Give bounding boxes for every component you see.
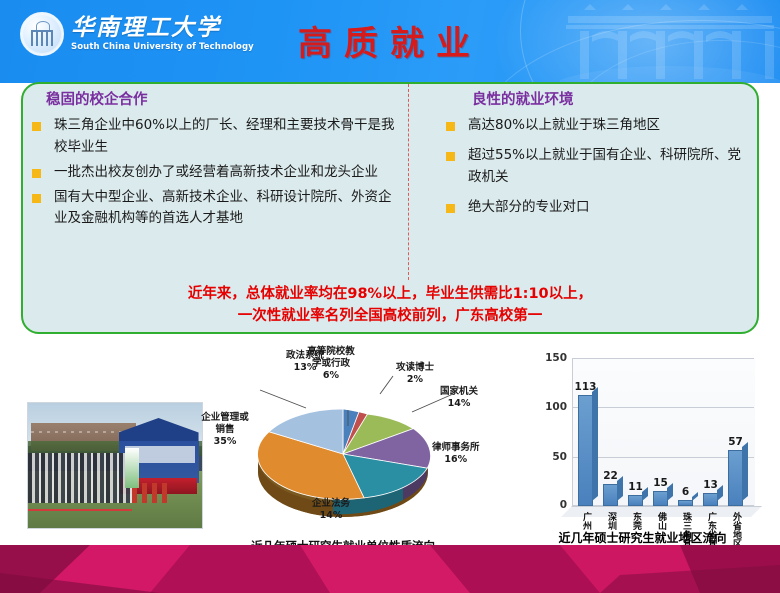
page-title: 高质就业 (0, 16, 780, 65)
right-bullet-list: 高达80%以上就业于珠三角地区 超过55%以上就业于国有企业、科研院所、党政机关… (424, 115, 754, 218)
bar-chart-title: 近几年硕士研究生就业地区流向 (505, 529, 780, 546)
bar-value: 113 (575, 381, 597, 393)
pie-chart: 政法系统13% 高等院校教学或行政6% 攻读博士2% 国家机关14% 律师事务所… (188, 350, 498, 555)
list-item: 绝大部分的专业对口 (424, 197, 754, 219)
column-divider (408, 84, 409, 280)
bar-guangdong-other[interactable]: 13 (703, 493, 718, 506)
list-item: 超过55%以上就业于国有企业、科研院所、党政机关 (424, 145, 754, 189)
highlight-line-1: 近年来，总体就业率均在98%以上，毕业生供需比1:10以上， (21, 283, 759, 305)
left-column: 稳固的校企合作 珠三角企业中60%以上的厂长、经理和主要技术骨干是我校毕业生 一… (28, 88, 400, 233)
bar-side (592, 387, 598, 501)
left-column-heading: 稳固的校企合作 (28, 88, 400, 109)
right-column-heading: 良性的就业环境 (424, 88, 754, 109)
photo-crowd (28, 453, 136, 503)
list-item: 国有大中型企业、高新技术企业、科研设计院所、外资企业及金融机构等的首选人才基地 (28, 187, 400, 231)
bar-side (642, 487, 648, 501)
y-tick-100: 100 (545, 401, 567, 413)
bar-dongguan[interactable]: 11 (628, 495, 643, 506)
pie-label-boshi: 攻读博士2% (396, 362, 434, 386)
bar-side (742, 442, 748, 501)
footer-pattern (0, 545, 780, 593)
gridline-50 (572, 457, 754, 458)
left-bullet-list: 珠三角企业中60%以上的厂长、经理和主要技术骨干是我校毕业生 一批杰出校友创办了… (28, 115, 400, 230)
pie-label-qiyeguanli: 企业管理或销售35% (190, 412, 260, 448)
bar-side (692, 492, 698, 501)
bar-side (667, 483, 673, 501)
gridline-150 (572, 358, 754, 359)
bar-foshan[interactable]: 15 (653, 491, 668, 506)
pie-label-gaoxiao: 高等院校教学或行政6% (296, 346, 366, 382)
bar-guangzhou[interactable]: 113 (578, 395, 593, 506)
bar-chart-plot: 150 100 50 0 113 22 11 15 (572, 358, 754, 506)
list-item: 珠三角企业中60%以上的厂长、经理和主要技术骨干是我校毕业生 (28, 115, 400, 159)
y-tick-150: 150 (545, 352, 567, 364)
slide-footer (0, 545, 780, 593)
highlight-text: 近年来，总体就业率均在98%以上，毕业生供需比1:10以上， 一次性就业率名列全… (21, 283, 759, 328)
photo-flag (125, 448, 139, 488)
pie-label-fawu: 企业法务14% (312, 498, 350, 522)
bar-shenzhen[interactable]: 22 (603, 484, 618, 506)
y-tick-0: 0 (560, 499, 567, 511)
bar-value: 15 (653, 477, 668, 489)
bar-value: 22 (603, 470, 618, 482)
y-tick-50: 50 (552, 451, 567, 463)
x-label-guangzhou: 广州 (580, 512, 593, 530)
bar-value: 6 (682, 486, 689, 498)
bar-side (617, 476, 623, 501)
x-label-foshan: 佛山 (655, 512, 668, 530)
list-item: 一批杰出校友创办了或经营着高新技术企业和龙头企业 (28, 162, 400, 184)
job-fair-photo (27, 402, 203, 529)
right-column: 良性的就业环境 高达80%以上就业于珠三角地区 超过55%以上就业于国有企业、科… (424, 88, 754, 226)
gridline-100 (572, 407, 754, 408)
bar-waisheng[interactable]: 57 (728, 450, 743, 506)
pie-label-guojia: 国家机关14% (440, 386, 478, 410)
bar-value: 11 (628, 481, 643, 493)
x-label-dongguan: 东莞 (630, 512, 643, 530)
bar-value: 13 (703, 479, 718, 491)
pie-label-lvshi: 律师事务所16% (432, 442, 480, 466)
photo-queue-rope (28, 509, 132, 511)
bar-chart: 150 100 50 0 113 22 11 15 (524, 352, 768, 532)
bar-zhusanjiao-other[interactable]: 6 (678, 500, 693, 506)
bar-value: 57 (728, 436, 743, 448)
slide-header: 华南理工大学 South China University of Technol… (0, 0, 780, 83)
list-item: 高达80%以上就业于珠三角地区 (424, 115, 754, 137)
x-label-shenzhen: 深圳 (605, 512, 618, 530)
slide: 华南理工大学 South China University of Technol… (0, 0, 780, 593)
highlight-line-2: 一次性就业率名列全国高校前列，广东高校第一 (21, 305, 759, 327)
bar-side (717, 485, 723, 501)
